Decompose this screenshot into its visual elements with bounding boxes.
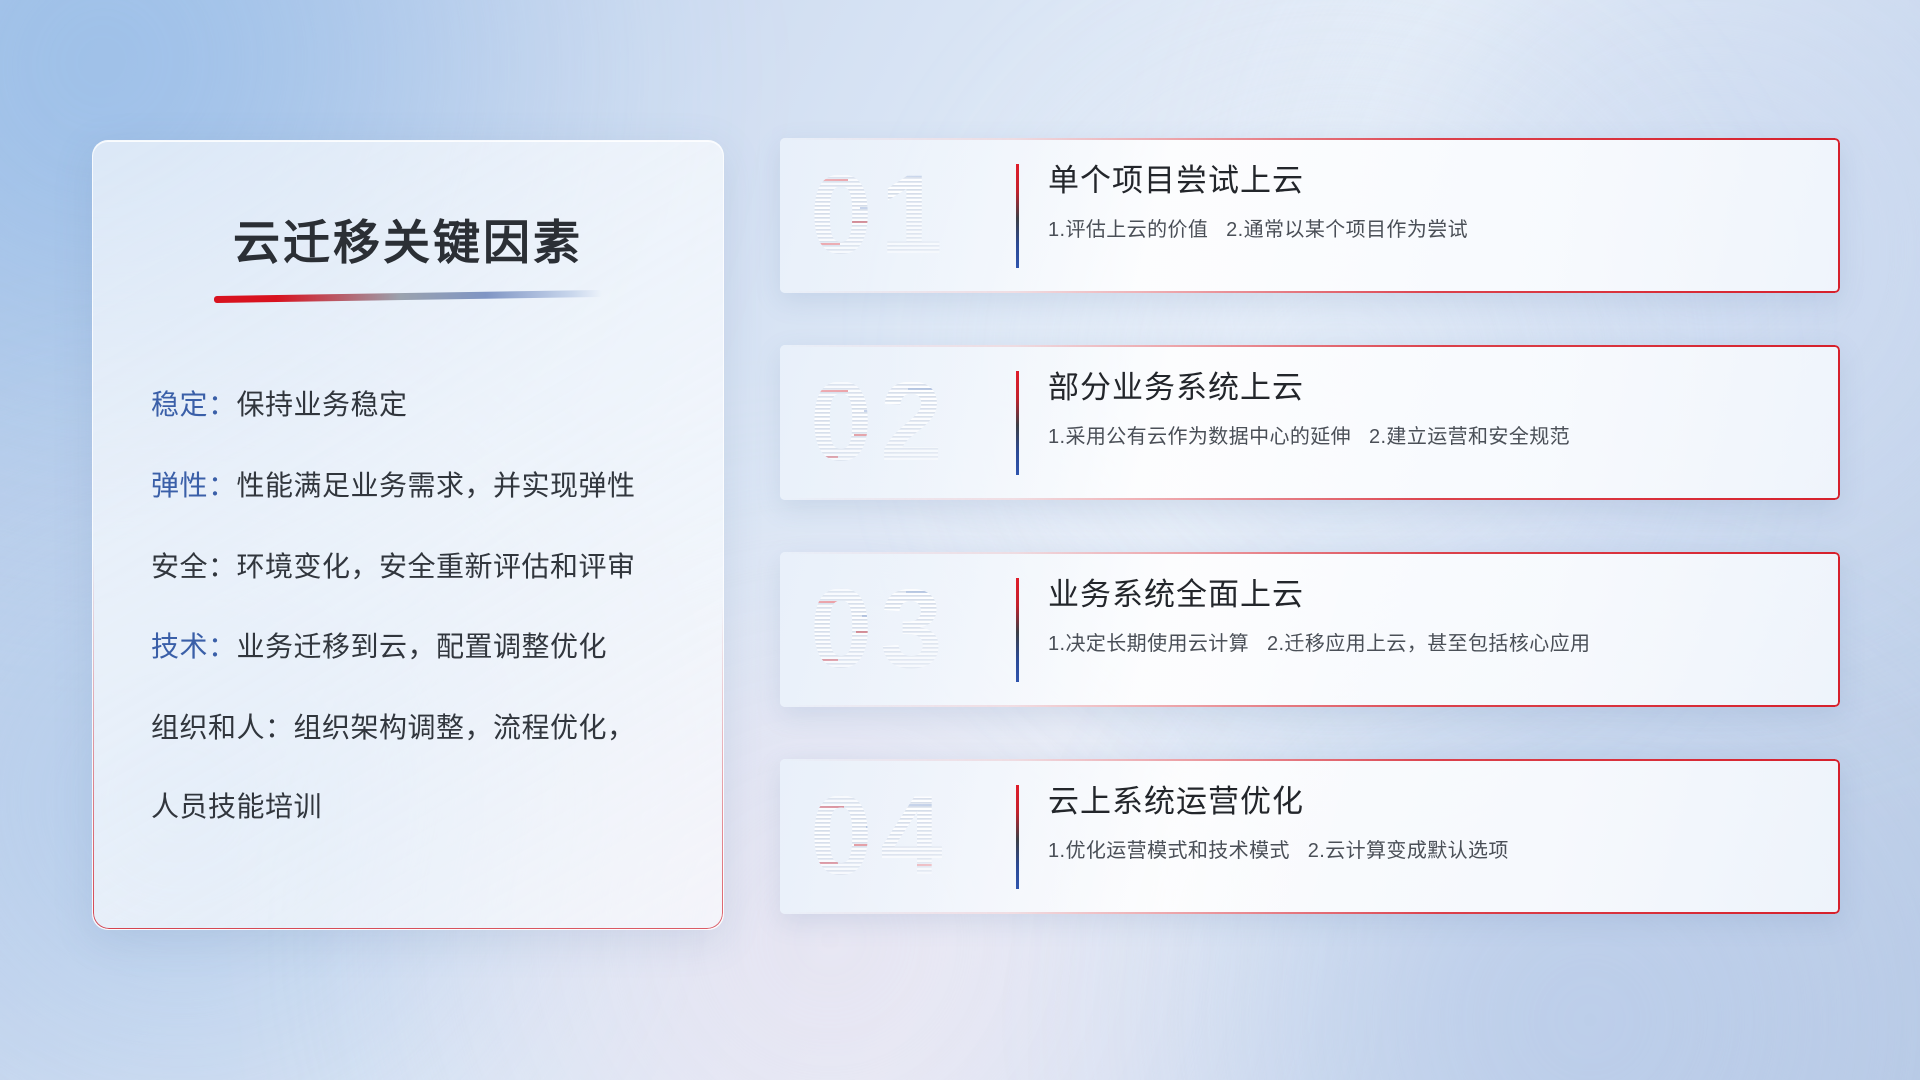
factor-text: 组织架构调整，流程优化， xyxy=(294,712,636,743)
step-accent-divider xyxy=(1016,578,1019,682)
step-title: 云上系统运营优化 xyxy=(1048,783,1800,822)
key-factors-list: 稳定：保持业务稳定 弹性：性能满足业务需求，并实现弹性 安全：环境变化，安全重新… xyxy=(137,386,679,826)
step-number-02-icon: 02 xyxy=(804,364,1000,482)
list-item: 安全：环境变化，安全重新评估和评审 xyxy=(151,548,679,587)
factor-text-line2: 人员技能培训 xyxy=(151,791,322,822)
step-title: 业务系统全面上云 xyxy=(1048,576,1800,615)
factor-label: 组织和人： xyxy=(151,712,294,743)
step-accent-divider xyxy=(1016,785,1019,889)
migration-steps-list: 01 单个项目尝试上云 1.评估上云的 xyxy=(780,138,1840,966)
factor-label: 弹性： xyxy=(151,470,237,501)
step-card-01[interactable]: 01 单个项目尝试上云 1.评估上云的 xyxy=(780,138,1840,293)
step-card-03[interactable]: 03 业务系统全面上云 1.决定长期使 xyxy=(780,552,1840,707)
page-title: 云迁移关键因素 xyxy=(137,215,679,271)
step-accent-divider xyxy=(1016,371,1019,475)
list-item: 弹性：性能满足业务需求，并实现弹性 xyxy=(151,467,679,506)
factor-text: 保持业务稳定 xyxy=(237,389,408,420)
step-title: 单个项目尝试上云 xyxy=(1048,162,1800,201)
slide-stage: 云迁移关键因素 稳定：保持业务稳定 弹性：性能满足业务需求，并实现弹性 安全：环… xyxy=(0,0,1920,1080)
factor-label: 安全： xyxy=(151,551,237,582)
factor-label: 稳定： xyxy=(151,389,237,420)
step-accent-divider xyxy=(1016,164,1019,268)
step-description: 1.评估上云的价值 2.通常以某个项目作为尝试 xyxy=(1048,217,1800,243)
step-description: 1.采用公有云作为数据中心的延伸 2.建立运营和安全规范 xyxy=(1048,424,1800,450)
factor-text: 环境变化，安全重新评估和评审 xyxy=(237,551,636,582)
step-number-01-icon: 01 xyxy=(804,157,1000,275)
step-number-03-icon: 03 xyxy=(804,571,1000,689)
step-description: 1.决定长期使用云计算 2.迁移应用上云，甚至包括核心应用 xyxy=(1048,631,1800,657)
list-item: 组织和人：组织架构调整，流程优化， xyxy=(151,709,679,748)
step-number-04-icon: 04 xyxy=(804,778,1000,896)
list-item: 技术：业务迁移到云，配置调整优化 xyxy=(151,628,679,667)
step-card-02[interactable]: 02 部分业务系统上云 1.采用公有云 xyxy=(780,345,1840,500)
step-card-04[interactable]: 04 云上系统运营优化 1.优化运营模 xyxy=(780,759,1840,914)
title-underline-accent xyxy=(214,290,602,303)
list-item: 稳定：保持业务稳定 xyxy=(151,386,679,425)
step-description: 1.优化运营模式和技术模式 2.云计算变成默认选项 xyxy=(1048,838,1800,864)
factor-label: 技术： xyxy=(151,631,237,662)
factor-text: 业务迁移到云，配置调整优化 xyxy=(237,631,608,662)
list-item-continuation: 人员技能培训 xyxy=(151,788,679,827)
step-title: 部分业务系统上云 xyxy=(1048,369,1800,408)
key-factors-panel: 云迁移关键因素 稳定：保持业务稳定 弹性：性能满足业务需求，并实现弹性 安全：环… xyxy=(92,140,724,930)
factor-text: 性能满足业务需求，并实现弹性 xyxy=(237,470,636,501)
